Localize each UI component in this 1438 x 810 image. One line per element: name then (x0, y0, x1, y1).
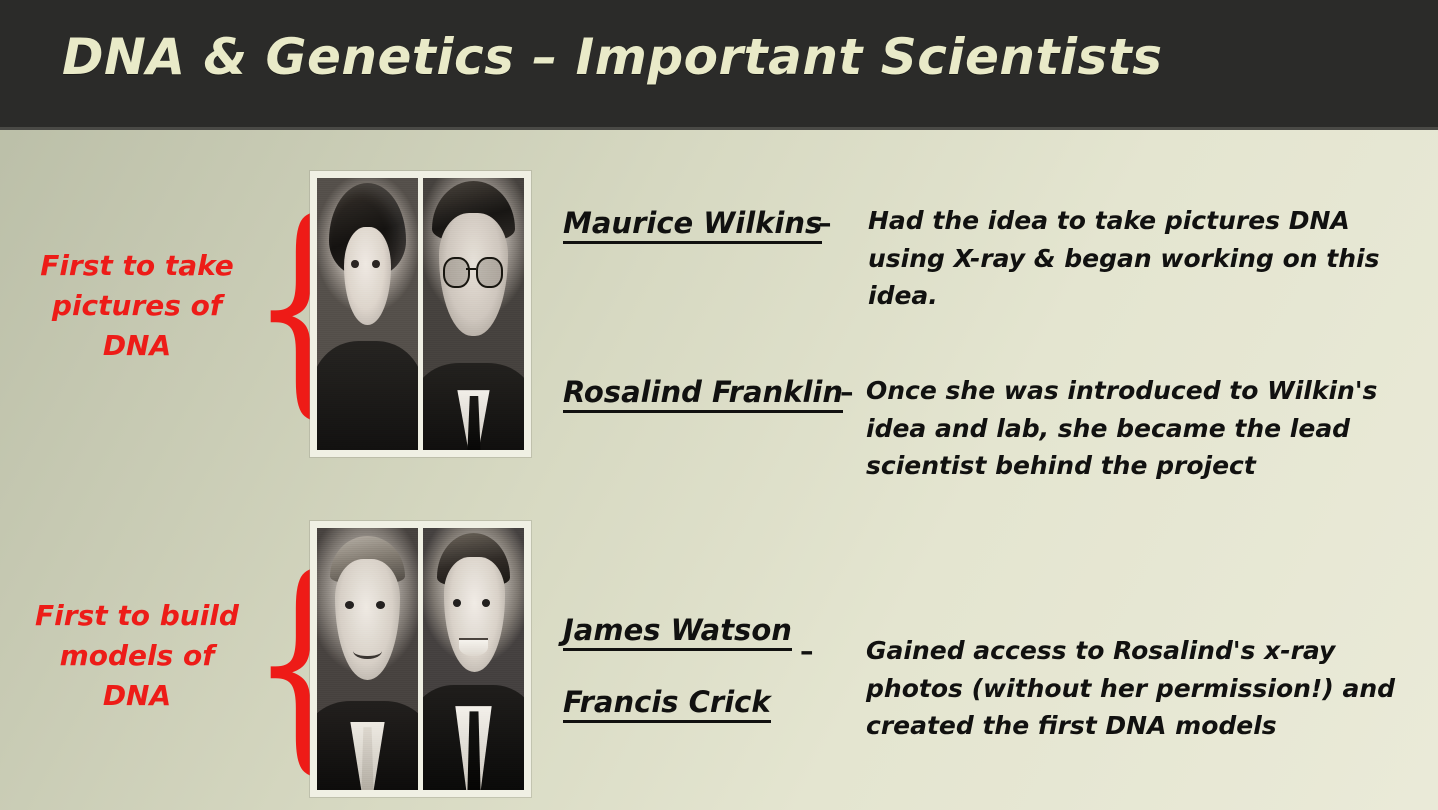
scientist-description-maurice-wilkins: Had the idea to take pictures DNA using … (868, 202, 1428, 315)
scientist-name-rosalind-franklin: Rosalind Franklin (563, 375, 843, 413)
group-label-build-models: First to build models of DNA (22, 596, 252, 715)
page-title: DNA & Genetics – Important Scientists (62, 28, 1162, 86)
header-divider (0, 127, 1438, 130)
scientist-description-rosalind-franklin: Once she was introduced to Wilkin's idea… (866, 372, 1411, 485)
dash-separator-watson-crick: – (800, 636, 814, 667)
group-label-take-pictures: First to take pictures of DNA (22, 246, 252, 365)
scientist-name-maurice-wilkins: Maurice Wilkins (563, 206, 822, 244)
dash-separator-wilkins: – (818, 208, 832, 239)
scientist-name-francis-crick: Francis Crick (563, 685, 771, 723)
scientist-description-watson-crick: Gained access to Rosalind's x-ray photos… (866, 632, 1406, 745)
scientist-name-james-watson: James Watson (563, 613, 792, 651)
dash-separator-franklin: – (840, 377, 854, 408)
portrait-maurice-wilkins (423, 178, 524, 450)
photo-group-models (310, 521, 531, 797)
portrait-rosalind-franklin (317, 178, 418, 450)
presentation-slide: DNA & Genetics – Important Scientists Fi… (0, 0, 1438, 810)
portrait-james-watson (423, 528, 524, 790)
photo-group-pictures (310, 171, 531, 457)
portrait-francis-crick (317, 528, 418, 790)
